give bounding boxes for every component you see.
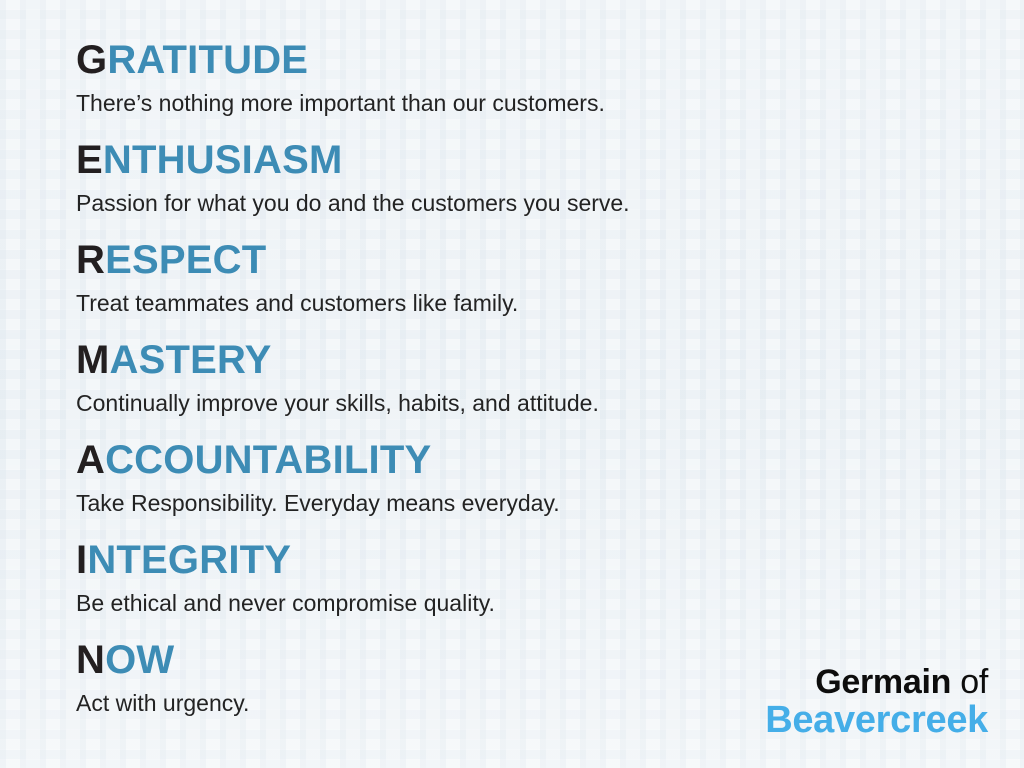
value-heading: MASTERY	[76, 340, 599, 380]
value-block-respect: RESPECT Treat teammates and customers li…	[76, 240, 518, 315]
value-description: Act with urgency.	[76, 680, 249, 715]
value-heading: INTEGRITY	[76, 540, 495, 580]
value-block-now: NOW Act with urgency.	[76, 640, 249, 715]
value-block-integrity: INTEGRITY Be ethical and never compromis…	[76, 540, 495, 615]
value-description: Take Responsibility. Everyday means ever…	[76, 480, 560, 515]
value-heading-rest: ASTERY	[110, 338, 272, 382]
value-block-gratitude: GRATITUDE There’s nothing more important…	[76, 40, 605, 115]
value-heading-rest: NTHUSIASM	[103, 138, 343, 182]
value-heading-initial: A	[76, 438, 105, 482]
value-block-accountability: ACCOUNTABILITY Take Responsibility. Ever…	[76, 440, 560, 515]
value-heading-rest: ESPECT	[105, 238, 266, 282]
dealership-logo: Germain of Beavercreek	[765, 665, 988, 740]
value-description: Treat teammates and customers like famil…	[76, 280, 518, 315]
value-heading-rest: CCOUNTABILITY	[105, 438, 431, 482]
value-heading-rest: OW	[105, 638, 174, 682]
value-heading: ENTHUSIASM	[76, 140, 630, 180]
value-description: Continually improve your skills, habits,…	[76, 380, 599, 415]
value-description: There’s nothing more important than our …	[76, 80, 605, 115]
value-heading-initial: N	[76, 638, 105, 682]
value-description: Be ethical and never compromise quality.	[76, 580, 495, 615]
values-poster: GRATITUDE There’s nothing more important…	[0, 0, 1024, 768]
logo-line-name: Germain of	[765, 665, 988, 700]
value-heading-initial: M	[76, 338, 110, 382]
poster-content: GRATITUDE There’s nothing more important…	[0, 0, 1024, 768]
logo-line-location: Beavercreek	[765, 701, 988, 740]
value-block-enthusiasm: ENTHUSIASM Passion for what you do and t…	[76, 140, 630, 215]
value-heading-initial: I	[76, 538, 87, 582]
value-heading: RESPECT	[76, 240, 518, 280]
value-heading-rest: NTEGRITY	[87, 538, 291, 582]
value-heading: GRATITUDE	[76, 40, 605, 80]
value-heading-rest: RATITUDE	[107, 38, 308, 82]
value-heading-initial: G	[76, 38, 107, 82]
logo-connector: of	[951, 663, 988, 701]
value-heading: ACCOUNTABILITY	[76, 440, 560, 480]
logo-brand-name: Germain	[815, 663, 951, 701]
value-heading-initial: R	[76, 238, 105, 282]
value-block-mastery: MASTERY Continually improve your skills,…	[76, 340, 599, 415]
value-description: Passion for what you do and the customer…	[76, 180, 630, 215]
value-heading-initial: E	[76, 138, 103, 182]
value-heading: NOW	[76, 640, 249, 680]
